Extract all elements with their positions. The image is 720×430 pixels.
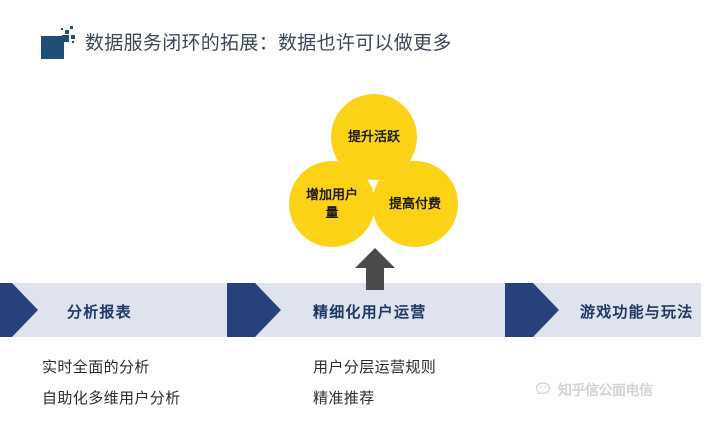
detail-column-1: 实时全面的分析 自助化多维用户分析 xyxy=(42,352,181,414)
logo-pixel-5 xyxy=(61,28,63,30)
process-step-label-3: 游戏功能与玩法 xyxy=(580,301,693,322)
detail-item: 自助化多维用户分析 xyxy=(42,383,181,414)
wechat-icon xyxy=(536,382,554,398)
detail-item: 精准推荐 xyxy=(313,383,436,414)
venn-circle-top: 提升活跃 xyxy=(331,94,417,180)
process-chevron-1 xyxy=(0,283,38,337)
logo-pixel-3 xyxy=(71,35,75,39)
page-title: 数据服务闭环的拓展：数据也许可以做更多 xyxy=(85,31,452,57)
detail-item: 实时全面的分析 xyxy=(42,352,181,383)
logo-pixel-2 xyxy=(65,30,69,34)
watermark-text: 知乎信公面电信 xyxy=(558,380,653,400)
process-chevron-3 xyxy=(505,283,559,337)
detail-column-2: 用户分层运营规则 精准推荐 xyxy=(313,352,436,414)
process-step-label-2: 精细化用户运营 xyxy=(313,301,426,322)
logo-pixel-1 xyxy=(62,35,69,42)
logo-pixel-6 xyxy=(72,41,74,43)
pixel-square-logo-icon xyxy=(41,26,75,60)
watermark: 知乎信公面电信 xyxy=(536,375,716,405)
venn-diagram: 提升活跃 增加用户量 提高付费 xyxy=(286,90,461,255)
venn-circle-top-label: 提升活跃 xyxy=(347,128,401,146)
logo-pixel-4 xyxy=(70,26,73,29)
venn-circle-bottom-left-label: 增加用户量 xyxy=(305,186,359,222)
process-chevron-2 xyxy=(227,283,281,337)
process-step-label-1: 分析报表 xyxy=(67,301,132,322)
detail-item: 用户分层运营规则 xyxy=(313,352,436,383)
logo-main-square xyxy=(41,36,64,59)
slide-canvas: 数据服务闭环的拓展：数据也许可以做更多 提升活跃 增加用户量 提高付费 xyxy=(0,0,720,430)
venn-circle-bottom-right-label: 提高付费 xyxy=(388,195,442,213)
slide-header: 数据服务闭环的拓展：数据也许可以做更多 xyxy=(0,0,720,78)
arrow-up-icon xyxy=(355,248,395,290)
